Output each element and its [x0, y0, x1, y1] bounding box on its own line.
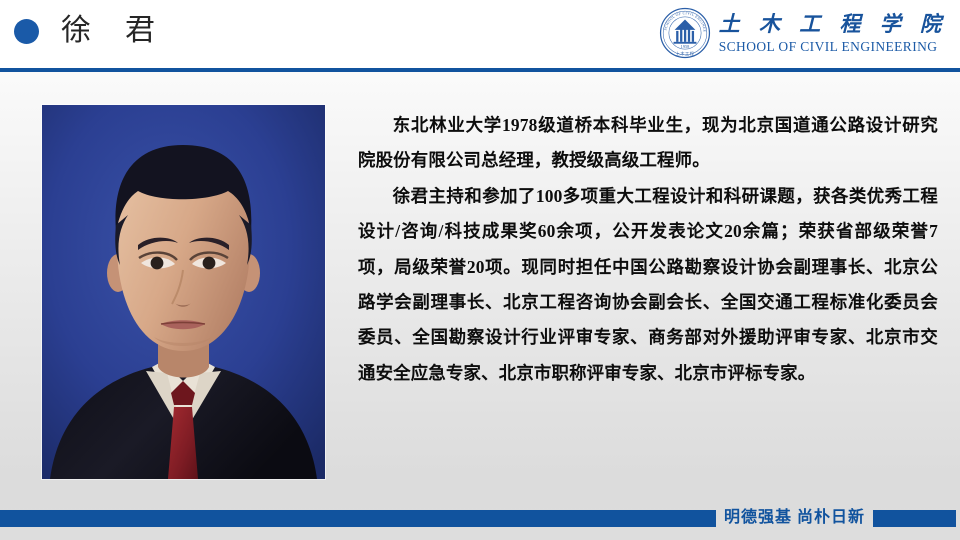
portrait-photo	[42, 105, 325, 479]
slide-header: 徐 君 SCHOOL OF CIVIL ENGINEERING	[0, 0, 960, 68]
header-divider	[0, 68, 960, 72]
svg-text:土木工程: 土木工程	[675, 50, 694, 56]
slide: 徐 君 SCHOOL OF CIVIL ENGINEERING	[0, 0, 960, 540]
school-logo: SCHOOL OF CIVIL ENGINEERING 1958 土木工程	[659, 5, 948, 61]
biography-text: 东北林业大学1978级道桥本科毕业生，现为北京国道通公路设计研究院股份有限公司总…	[358, 108, 938, 391]
page-title: 徐 君	[61, 14, 157, 48]
footer-bar-left	[0, 510, 716, 527]
slide-footer: 明德强基 尚朴日新	[0, 508, 960, 528]
footer-bar-right	[873, 510, 956, 527]
civil-engineering-seal-icon: SCHOOL OF CIVIL ENGINEERING 1958 土木工程	[659, 7, 711, 59]
logo-english-name: SCHOOL OF CIVIL ENGINEERING	[719, 38, 948, 55]
paragraph-1: 东北林业大学1978级道桥本科毕业生，现为北京国道通公路设计研究院股份有限公司总…	[358, 108, 938, 179]
portrait-illustration	[42, 105, 325, 479]
bullet-icon	[14, 19, 39, 44]
paragraph-2: 徐君主持和参加了100多项重大工程设计和科研课题，获各类优秀工程设计/咨询/科技…	[358, 179, 938, 391]
logo-chinese-name: 土 木 工 程 学 院	[719, 12, 948, 36]
title-group: 徐 君	[14, 14, 157, 48]
footer-motto: 明德强基 尚朴日新	[716, 509, 873, 527]
logo-text-group: 土 木 工 程 学 院 SCHOOL OF CIVIL ENGINEERING	[719, 12, 948, 55]
svg-text:1958: 1958	[680, 44, 690, 49]
